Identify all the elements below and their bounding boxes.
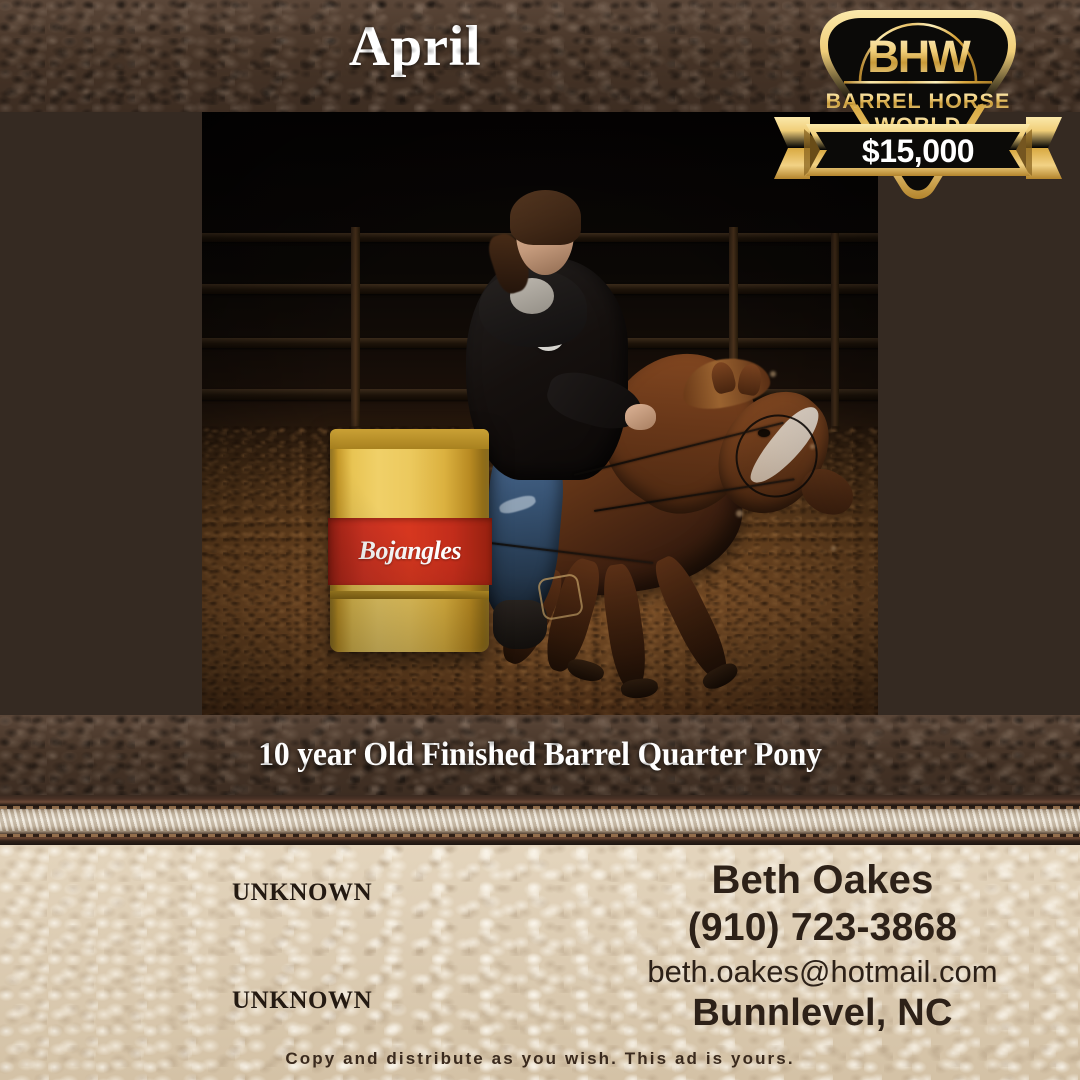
contact-email[interactable]: beth.oakes@hotmail.com [565,955,1080,988]
footer-note: Copy and distribute as you wish. This ad… [0,1049,1080,1069]
listing-headline: 10 year Old Finished Barrel Quarter Pony [38,715,1042,795]
contact-location: Bunnlevel, NC [565,993,1080,1034]
badge-org-line1: BARREL HORSE [826,89,1011,113]
divider-stitch-bottom [0,834,1080,837]
contact-block: Beth Oakes (910) 723-3868 beth.oakes@hot… [565,859,1080,1034]
barrel-brand-label: Bojangles [359,536,461,566]
barrel-brand-band: les Bojangles Bo [328,518,492,585]
ad-canvas: April [0,0,1080,1080]
badge-monogram: BHW [867,31,971,82]
divider-braid [0,809,1080,831]
footer-panel: UNKNOWN UNKNOWN Beth Oakes (910) 723-386… [0,845,1080,1080]
badge-price: $15,000 [862,133,974,169]
contact-name: Beth Oakes [565,859,1080,902]
barrel-ring [330,591,489,599]
attribute-unknown-2: UNKNOWN [232,987,372,1015]
contact-phone[interactable]: (910) 723-3868 [565,907,1080,949]
rider-hair [510,190,581,244]
dust-speck [831,546,836,551]
dust-speck [736,510,743,517]
badge-svg: BHW BARREL HORSE WORLD $15,000 [768,4,1068,249]
stirrup [537,573,584,622]
horse-hoof [565,656,606,685]
barrel-rim [330,429,489,449]
bojangles-barrel: les Bojangles Bo [330,429,489,652]
rider-hand [625,404,656,429]
attribute-unknown-1: UNKNOWN [232,879,372,907]
footer-content: UNKNOWN UNKNOWN Beth Oakes (910) 723-386… [0,845,1080,1080]
page-title: April [0,18,830,75]
decorative-divider [0,795,1080,845]
rider-boot [493,600,547,648]
barrel-horse-world-badge[interactable]: BHW BARREL HORSE WORLD $15,000 [768,4,1068,249]
caption-band: 10 year Old Finished Barrel Quarter Pony [0,715,1080,795]
dust-speck [770,371,776,377]
